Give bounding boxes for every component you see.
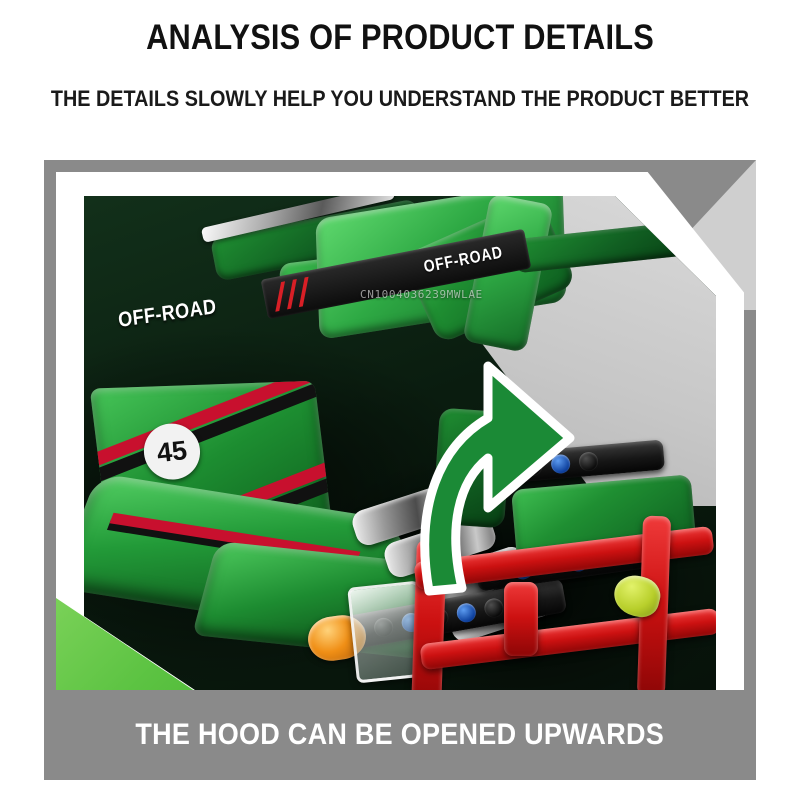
page-subtitle: THE DETAILS SLOWLY HELP YOU UNDERSTAND T… xyxy=(40,86,760,112)
hood-open-arrow-icon xyxy=(84,196,716,696)
product-photo: OFF-ROAD 45 OFF-ROAD xyxy=(84,196,716,696)
product-photo-card: OFF-ROAD 45 OFF-ROAD xyxy=(44,160,756,780)
caption-text: THE HOOD CAN BE OPENED UPWARDS xyxy=(136,718,665,752)
product-detail-page: ANALYSIS OF PRODUCT DETAILS THE DETAILS … xyxy=(0,0,800,800)
caption-band: THE HOOD CAN BE OPENED UPWARDS xyxy=(44,690,756,780)
page-title: ANALYSIS OF PRODUCT DETAILS xyxy=(48,18,752,58)
